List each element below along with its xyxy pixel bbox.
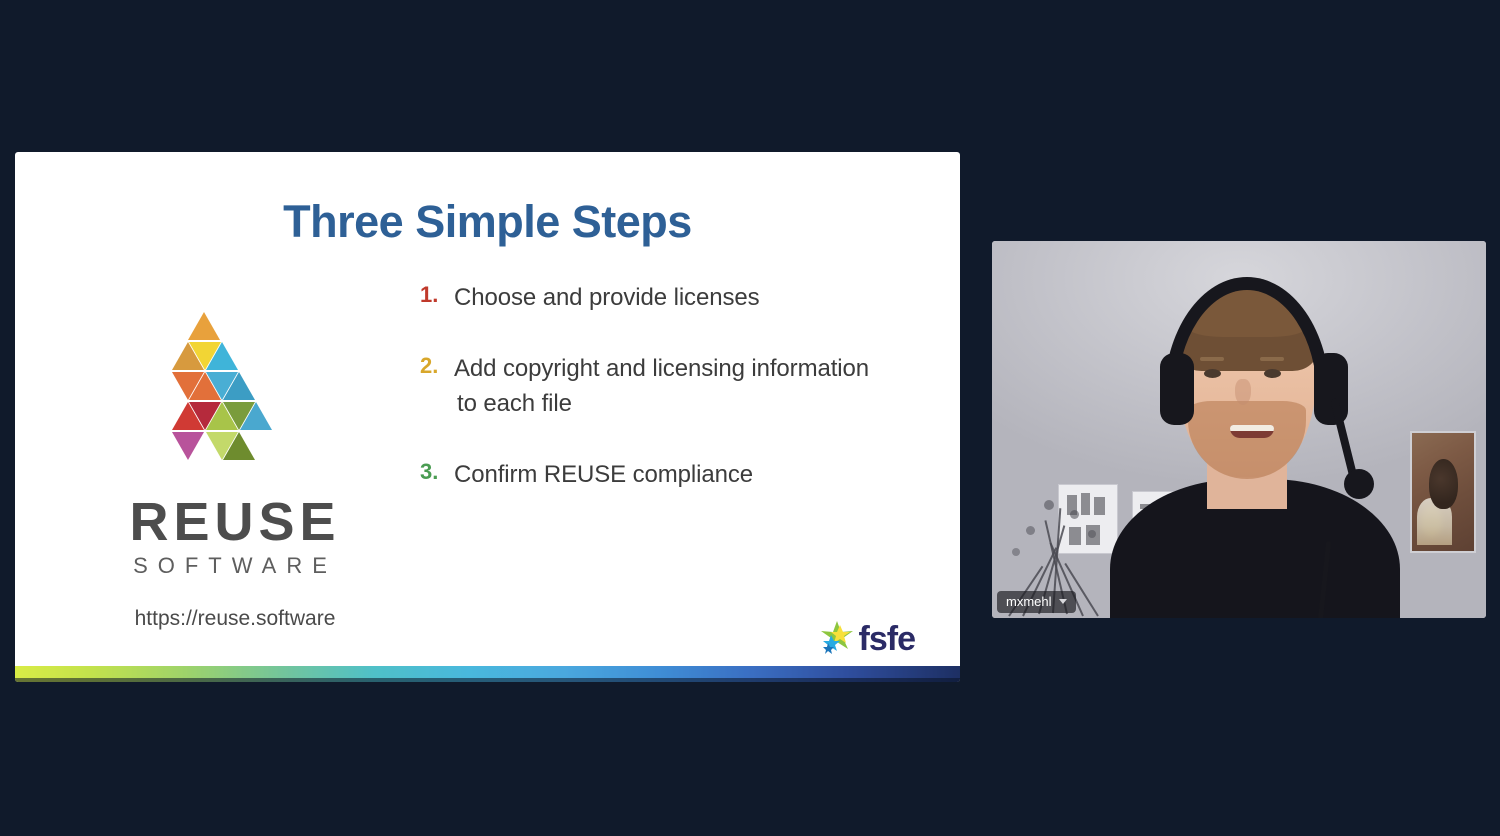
step-text-2: Add copyright and licensing information …	[454, 351, 869, 421]
participant-person	[992, 241, 1486, 618]
fsfe-wordmark: fsfe	[859, 622, 915, 656]
screen-root: Three Simple Steps 1. Choose and provide…	[0, 0, 1500, 836]
steps-list: 1. Choose and provide licenses 2. Add co…	[420, 280, 960, 528]
participant-name-label: mxmehl	[1006, 595, 1052, 608]
list-item: 2. Add copyright and licensing informati…	[420, 351, 960, 421]
reuse-logo: REUSE SOFTWARE	[90, 312, 380, 577]
person-mouth	[1230, 425, 1274, 438]
headset-earcup-left	[1160, 353, 1194, 425]
slide-url: https://reuse.software	[90, 607, 380, 631]
person-beard	[1188, 401, 1306, 479]
reuse-triangle-mosaic-icon	[160, 312, 310, 477]
step-number-3: 3.	[420, 457, 454, 487]
headset-microphone	[1344, 469, 1374, 499]
list-item: 1. Choose and provide licenses	[420, 280, 960, 315]
page-title: Three Simple Steps	[15, 196, 960, 248]
participant-name-badge[interactable]: mxmehl	[997, 591, 1076, 613]
reuse-wordmark: REUSE	[90, 495, 380, 549]
step-number-1: 1.	[420, 280, 454, 310]
participant-video-tile[interactable]: mxmehl	[992, 241, 1486, 618]
headset-earcup-right	[1314, 353, 1348, 425]
gradient-bar-shadow	[15, 678, 960, 682]
step-text-2-continuation: to each file	[454, 386, 869, 421]
list-item: 3. Confirm REUSE compliance	[420, 457, 960, 492]
presentation-slide[interactable]: Three Simple Steps 1. Choose and provide…	[15, 152, 960, 682]
reuse-subtitle: SOFTWARE	[90, 555, 380, 577]
fsfe-logo: fsfe	[817, 619, 915, 659]
step-number-2: 2.	[420, 351, 454, 381]
step-text-3: Confirm REUSE compliance	[454, 457, 753, 492]
chevron-down-icon[interactable]	[1059, 599, 1067, 604]
step-text-1: Choose and provide licenses	[454, 280, 760, 315]
fsfe-star-icon	[817, 619, 857, 659]
